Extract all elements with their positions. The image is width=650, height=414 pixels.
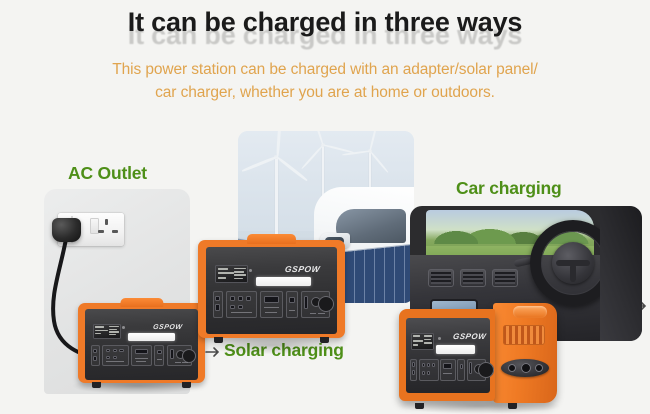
lcd-display xyxy=(93,324,121,339)
power-station-ac: GSPOW xyxy=(78,303,205,383)
connector-arrow-icon xyxy=(205,346,221,358)
brand-logo: GSPOW xyxy=(452,332,487,341)
input-group[interactable] xyxy=(286,291,298,317)
power-station-solar: GSPOW xyxy=(198,240,345,338)
power-station-car: GSPOW xyxy=(399,303,557,407)
ac-outlet-group[interactable] xyxy=(301,291,331,317)
brand-logo: GSPOW xyxy=(152,323,192,332)
steering-wheel-hub xyxy=(552,242,594,284)
usb-output-group[interactable] xyxy=(419,359,439,382)
air-vent-left[interactable] xyxy=(428,269,454,287)
ac-outlet-group[interactable] xyxy=(167,345,193,366)
status-led xyxy=(122,326,125,329)
subtitle-line-2: car charger, whether you are at home or … xyxy=(0,81,650,104)
port-panel xyxy=(91,345,193,366)
lcd-display xyxy=(215,265,248,283)
subtitle-line-1: This power station can be charged with a… xyxy=(0,58,650,81)
a-pillar xyxy=(600,206,642,341)
lcd-display xyxy=(411,333,434,350)
carry-handle xyxy=(513,306,547,318)
infographic-canvas: It can be charged in three ways It can b… xyxy=(0,0,650,411)
dc-output-group[interactable] xyxy=(260,291,284,317)
side-vent-grille xyxy=(503,325,545,345)
device-side-panel xyxy=(493,303,557,403)
device-feet xyxy=(405,403,527,409)
carry-handle xyxy=(120,298,163,307)
brand-logo: GSPOW xyxy=(284,264,330,274)
page-subtitle: This power station can be charged with a… xyxy=(0,58,650,104)
status-led xyxy=(249,269,252,272)
device-body: GSPOW xyxy=(399,309,495,401)
led-light-bar xyxy=(256,277,311,287)
device-feet xyxy=(78,382,205,388)
power-switch-group[interactable] xyxy=(410,359,417,382)
input-group[interactable] xyxy=(154,345,164,366)
device-front-face: GSPOW xyxy=(206,247,337,334)
usb-output-group[interactable] xyxy=(102,345,128,366)
port-panel xyxy=(213,291,331,317)
heading-block: It can be charged in three ways It can b… xyxy=(0,6,650,52)
dc-output-group[interactable] xyxy=(440,359,455,382)
black-mains-plug-icon xyxy=(52,218,81,242)
ac-outlet-group[interactable] xyxy=(467,359,486,382)
dc-output-group[interactable] xyxy=(131,345,151,366)
device-front-face: GSPOW xyxy=(85,309,198,380)
status-led xyxy=(438,337,441,340)
section-label-ac-outlet: AC Outlet xyxy=(68,163,147,184)
carry-handle xyxy=(247,234,297,245)
section-label-car-charging: Car charging xyxy=(456,178,562,199)
power-switch-group[interactable] xyxy=(213,291,224,317)
led-light-bar xyxy=(436,345,475,354)
page-title: It can be charged in three ways xyxy=(0,6,650,38)
device-front-face: GSPOW xyxy=(406,318,490,393)
power-switch-group[interactable] xyxy=(91,345,100,366)
port-panel xyxy=(410,359,486,382)
air-vent-center[interactable] xyxy=(460,269,486,287)
led-light-bar xyxy=(128,333,175,341)
device-feet xyxy=(198,337,345,343)
air-vent-right[interactable] xyxy=(492,269,518,287)
input-group[interactable] xyxy=(457,359,465,382)
side-port-oval[interactable] xyxy=(501,359,549,377)
usb-output-group[interactable] xyxy=(226,291,257,317)
solar-panel-foreground xyxy=(344,243,414,303)
